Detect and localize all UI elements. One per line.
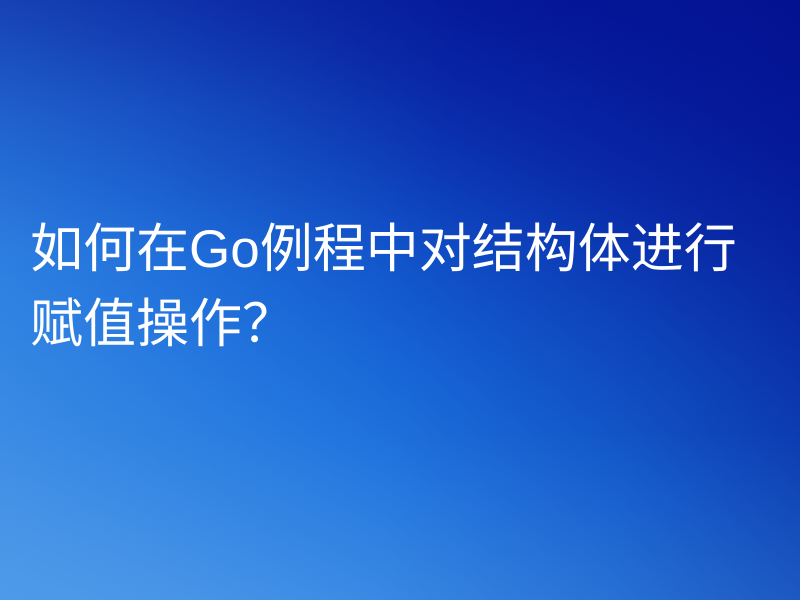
page-title: 如何在Go例程中对结构体进行赋值操作？: [30, 212, 776, 362]
headline-container: 如何在Go例程中对结构体进行赋值操作？: [0, 0, 800, 600]
title-card: 如何在Go例程中对结构体进行赋值操作？: [0, 0, 800, 600]
